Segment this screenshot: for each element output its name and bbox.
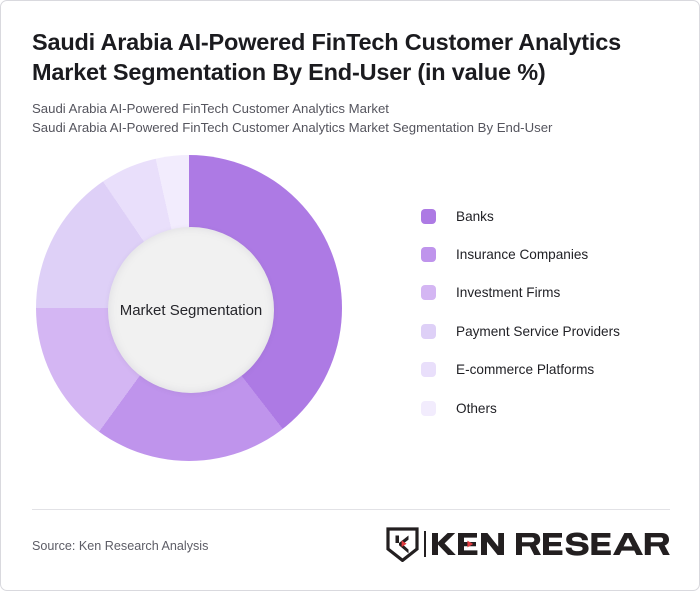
donut-center-label: Market Segmentation: [112, 301, 271, 320]
donut-chart: Market Segmentation: [36, 155, 346, 465]
legend-swatch: [421, 247, 436, 262]
legend-item-label: Others: [456, 401, 497, 416]
logo-divider: [424, 531, 426, 557]
chart-legend: BanksInsurance CompaniesInvestment Firms…: [421, 197, 691, 427]
legend-item[interactable]: Investment Firms: [421, 274, 691, 312]
legend-item-label: Banks: [456, 209, 494, 224]
legend-item-label: Insurance Companies: [456, 247, 588, 262]
shield-logo-icon: [386, 527, 419, 562]
legend-swatch: [421, 362, 436, 377]
card-content: Saudi Arabia AI-Powered FinTech Customer…: [1, 1, 700, 591]
legend-swatch: [421, 209, 436, 224]
legend-swatch: [421, 285, 436, 300]
legend-item[interactable]: E-commerce Platforms: [421, 351, 691, 389]
card-footer: Source: Ken Research Analysis: [32, 509, 670, 591]
legend-swatch: [421, 324, 436, 339]
legend-item-label: E-commerce Platforms: [456, 362, 594, 377]
ken-research-logo: [386, 526, 670, 562]
legend-item[interactable]: Banks: [421, 197, 691, 235]
legend-item[interactable]: Insurance Companies: [421, 235, 691, 273]
chart-body: Market Segmentation BanksInsurance Compa…: [32, 155, 671, 475]
source-note: Source: Ken Research Analysis: [32, 539, 208, 553]
chart-card: Saudi Arabia AI-Powered FinTech Customer…: [0, 0, 700, 591]
legend-item[interactable]: Payment Service Providers: [421, 312, 691, 350]
subtitle-segmentation: Saudi Arabia AI-Powered FinTech Customer…: [32, 119, 671, 138]
subtitle-market: Saudi Arabia AI-Powered FinTech Customer…: [32, 100, 671, 119]
ken-research-wordmark: [432, 531, 670, 557]
subtitle-group: Saudi Arabia AI-Powered FinTech Customer…: [32, 100, 671, 137]
page-title: Saudi Arabia AI-Powered FinTech Customer…: [32, 27, 671, 87]
legend-item[interactable]: Others: [421, 389, 691, 427]
donut-center: Market Segmentation: [108, 227, 274, 393]
legend-swatch: [421, 401, 436, 416]
legend-item-label: Payment Service Providers: [456, 324, 620, 339]
legend-item-label: Investment Firms: [456, 285, 560, 300]
